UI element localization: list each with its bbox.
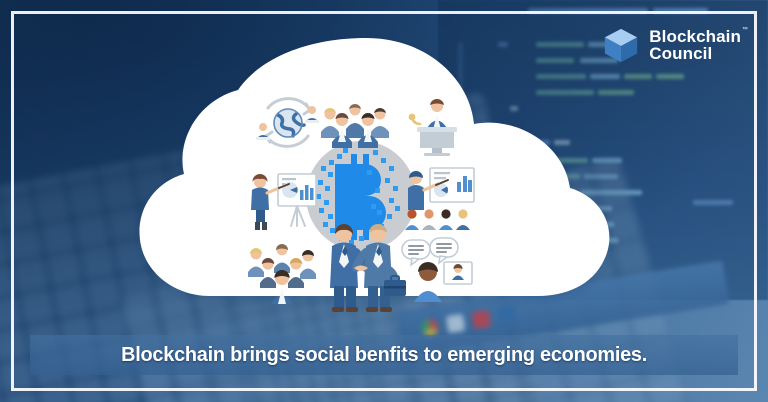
business-handshake-icon [312, 222, 408, 314]
headline-banner: Blockchain brings social benfits to emer… [30, 335, 738, 375]
people-group-icon [244, 238, 320, 306]
speaker-podium-icon [406, 94, 466, 156]
brand-name-line2: Council [649, 45, 741, 62]
training-audience-icon [402, 164, 482, 232]
globe-network-icon [250, 94, 326, 152]
brand-logo[interactable]: Blockchain™ Council [602, 26, 741, 64]
presentation-flipchart-icon [242, 166, 322, 234]
blockchain-cube-icon [602, 26, 640, 64]
business-team-icon [318, 98, 392, 148]
brand-name-line1: Blockchain™ [649, 28, 741, 45]
trademark-symbol: ™ [742, 27, 748, 33]
brand-name: Blockchain™ Council [649, 28, 741, 63]
chat-bubbles-person-icon [400, 236, 480, 304]
headline-text: Blockchain brings social benfits to emer… [121, 343, 647, 367]
banner-image: Blockchain™ Council Blockchain brings so… [0, 0, 768, 402]
